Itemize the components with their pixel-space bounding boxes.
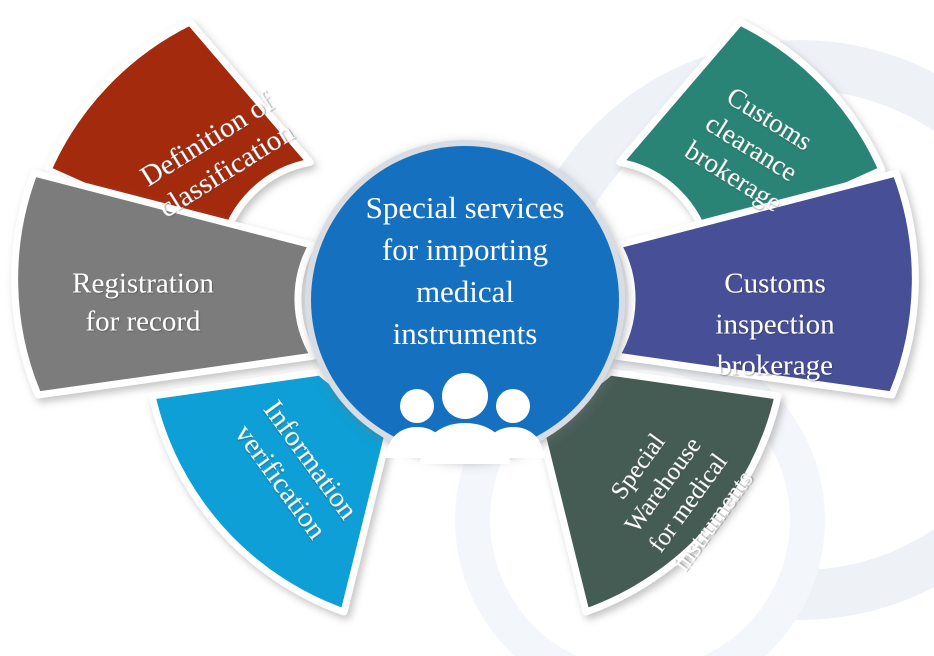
- hub-line-4: instruments: [393, 316, 538, 351]
- radial-diagram-svg: Special services for importing medical i…: [0, 0, 934, 656]
- hub-line-2: for importing: [382, 232, 548, 267]
- petal-5-line-3: brokerage: [717, 350, 833, 382]
- hub-line-1: Special services: [366, 190, 565, 225]
- hub-line-3: medical: [416, 274, 514, 309]
- petal-5-line-2: inspection: [715, 309, 835, 341]
- petal-2-line-1: Registration: [72, 268, 214, 300]
- petal-label-customs-inspection-brokerage: Customs inspection brokerage: [715, 268, 835, 382]
- petal-5-line-1: Customs: [724, 268, 826, 300]
- infographic-canvas: Special services for importing medical i…: [0, 0, 934, 656]
- petal-2-line-2: for record: [85, 306, 201, 338]
